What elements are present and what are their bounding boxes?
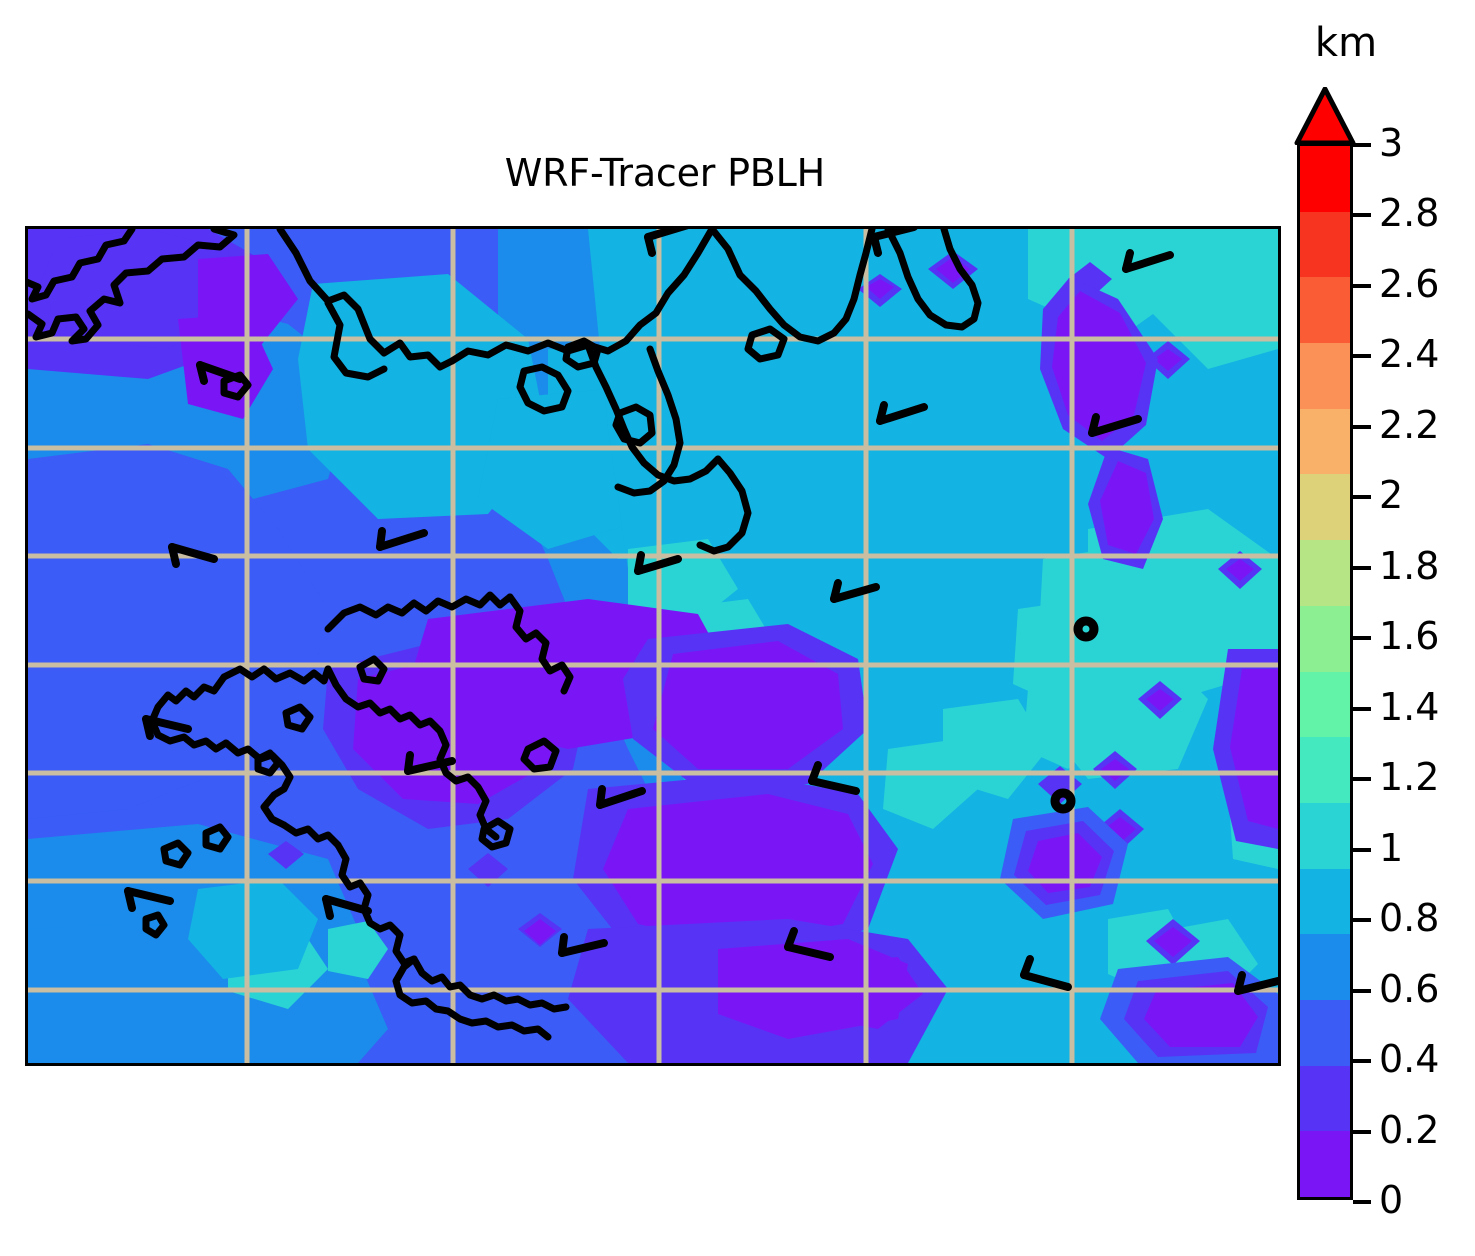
colorbar-tick-mark (1353, 1059, 1371, 1063)
map-contour-canvas (28, 229, 1278, 1063)
colorbar-tick-label: 2.2 (1379, 406, 1439, 444)
colorbar-tick-mark (1353, 707, 1371, 711)
colorbar-tick-mark (1353, 636, 1371, 640)
colorbar-tick-mark (1353, 918, 1371, 922)
colorbar-tick-label: 0.2 (1379, 1111, 1439, 1149)
colorbar-tick-mark (1353, 425, 1371, 429)
colorbar-tick-label: 1.4 (1379, 688, 1439, 726)
colorbar-tick-mark (1353, 213, 1371, 217)
colorbar-tick-mark (1353, 566, 1371, 570)
colorbar-tick-label: 1.2 (1379, 758, 1439, 796)
colorbar-unit-label: km (1286, 20, 1406, 66)
colorbar-segment (1300, 146, 1350, 212)
pblh-contour-map[interactable] (25, 226, 1281, 1066)
colorbar-tick-label: 0.8 (1379, 899, 1439, 937)
colorbar-tick-label: 1.8 (1379, 547, 1439, 585)
colorbar-segment (1300, 1000, 1350, 1066)
colorbar-tick-mark (1353, 777, 1371, 781)
colorbar-tick-label: 2 (1379, 476, 1403, 514)
colorbar-segment (1300, 803, 1350, 869)
colorbar-segment (1300, 737, 1350, 803)
colorbar-tick-mark (1353, 848, 1371, 852)
colorbar-segment (1300, 672, 1350, 738)
colorbar-extend-arrow-icon (1294, 87, 1356, 145)
colorbar-tick-mark (1353, 989, 1371, 993)
colorbar-tick-mark (1353, 495, 1371, 499)
colorbar-tick-label: 0 (1379, 1181, 1403, 1219)
colorbar-tick-label: 1 (1379, 829, 1403, 867)
colorbar-segment (1300, 212, 1350, 278)
colorbar-tick-mark (1353, 1130, 1371, 1134)
colorbar-tick-label: 2.8 (1379, 194, 1439, 232)
colorbar-segment (1300, 343, 1350, 409)
colorbar-gradient (1297, 143, 1353, 1200)
colorbar[interactable]: 00.20.40.60.811.21.41.61.822.22.42.62.83 (1297, 143, 1353, 1200)
colorbar-tick-mark (1353, 143, 1371, 147)
colorbar-tick-label: 3 (1379, 124, 1403, 162)
colorbar-tick-label: 0.6 (1379, 970, 1439, 1008)
colorbar-segment (1300, 869, 1350, 935)
colorbar-tick-label: 0.4 (1379, 1040, 1439, 1078)
colorbar-segment (1300, 934, 1350, 1000)
colorbar-tick-label: 2.6 (1379, 265, 1439, 303)
colorbar-tick-mark (1353, 284, 1371, 288)
colorbar-segment (1300, 409, 1350, 475)
colorbar-tick-mark (1353, 354, 1371, 358)
colorbar-tick-mark (1353, 1200, 1371, 1204)
colorbar-segment (1300, 277, 1350, 343)
colorbar-tick-label: 2.4 (1379, 335, 1439, 373)
colorbar-segment (1300, 540, 1350, 606)
colorbar-segment (1300, 606, 1350, 672)
title-line-1: WRF-Tracer PBLH (505, 151, 825, 195)
colorbar-tick-label: 1.6 (1379, 617, 1439, 655)
colorbar-segment (1300, 1066, 1350, 1132)
colorbar-segment (1300, 474, 1350, 540)
colorbar-segment (1300, 1131, 1350, 1197)
